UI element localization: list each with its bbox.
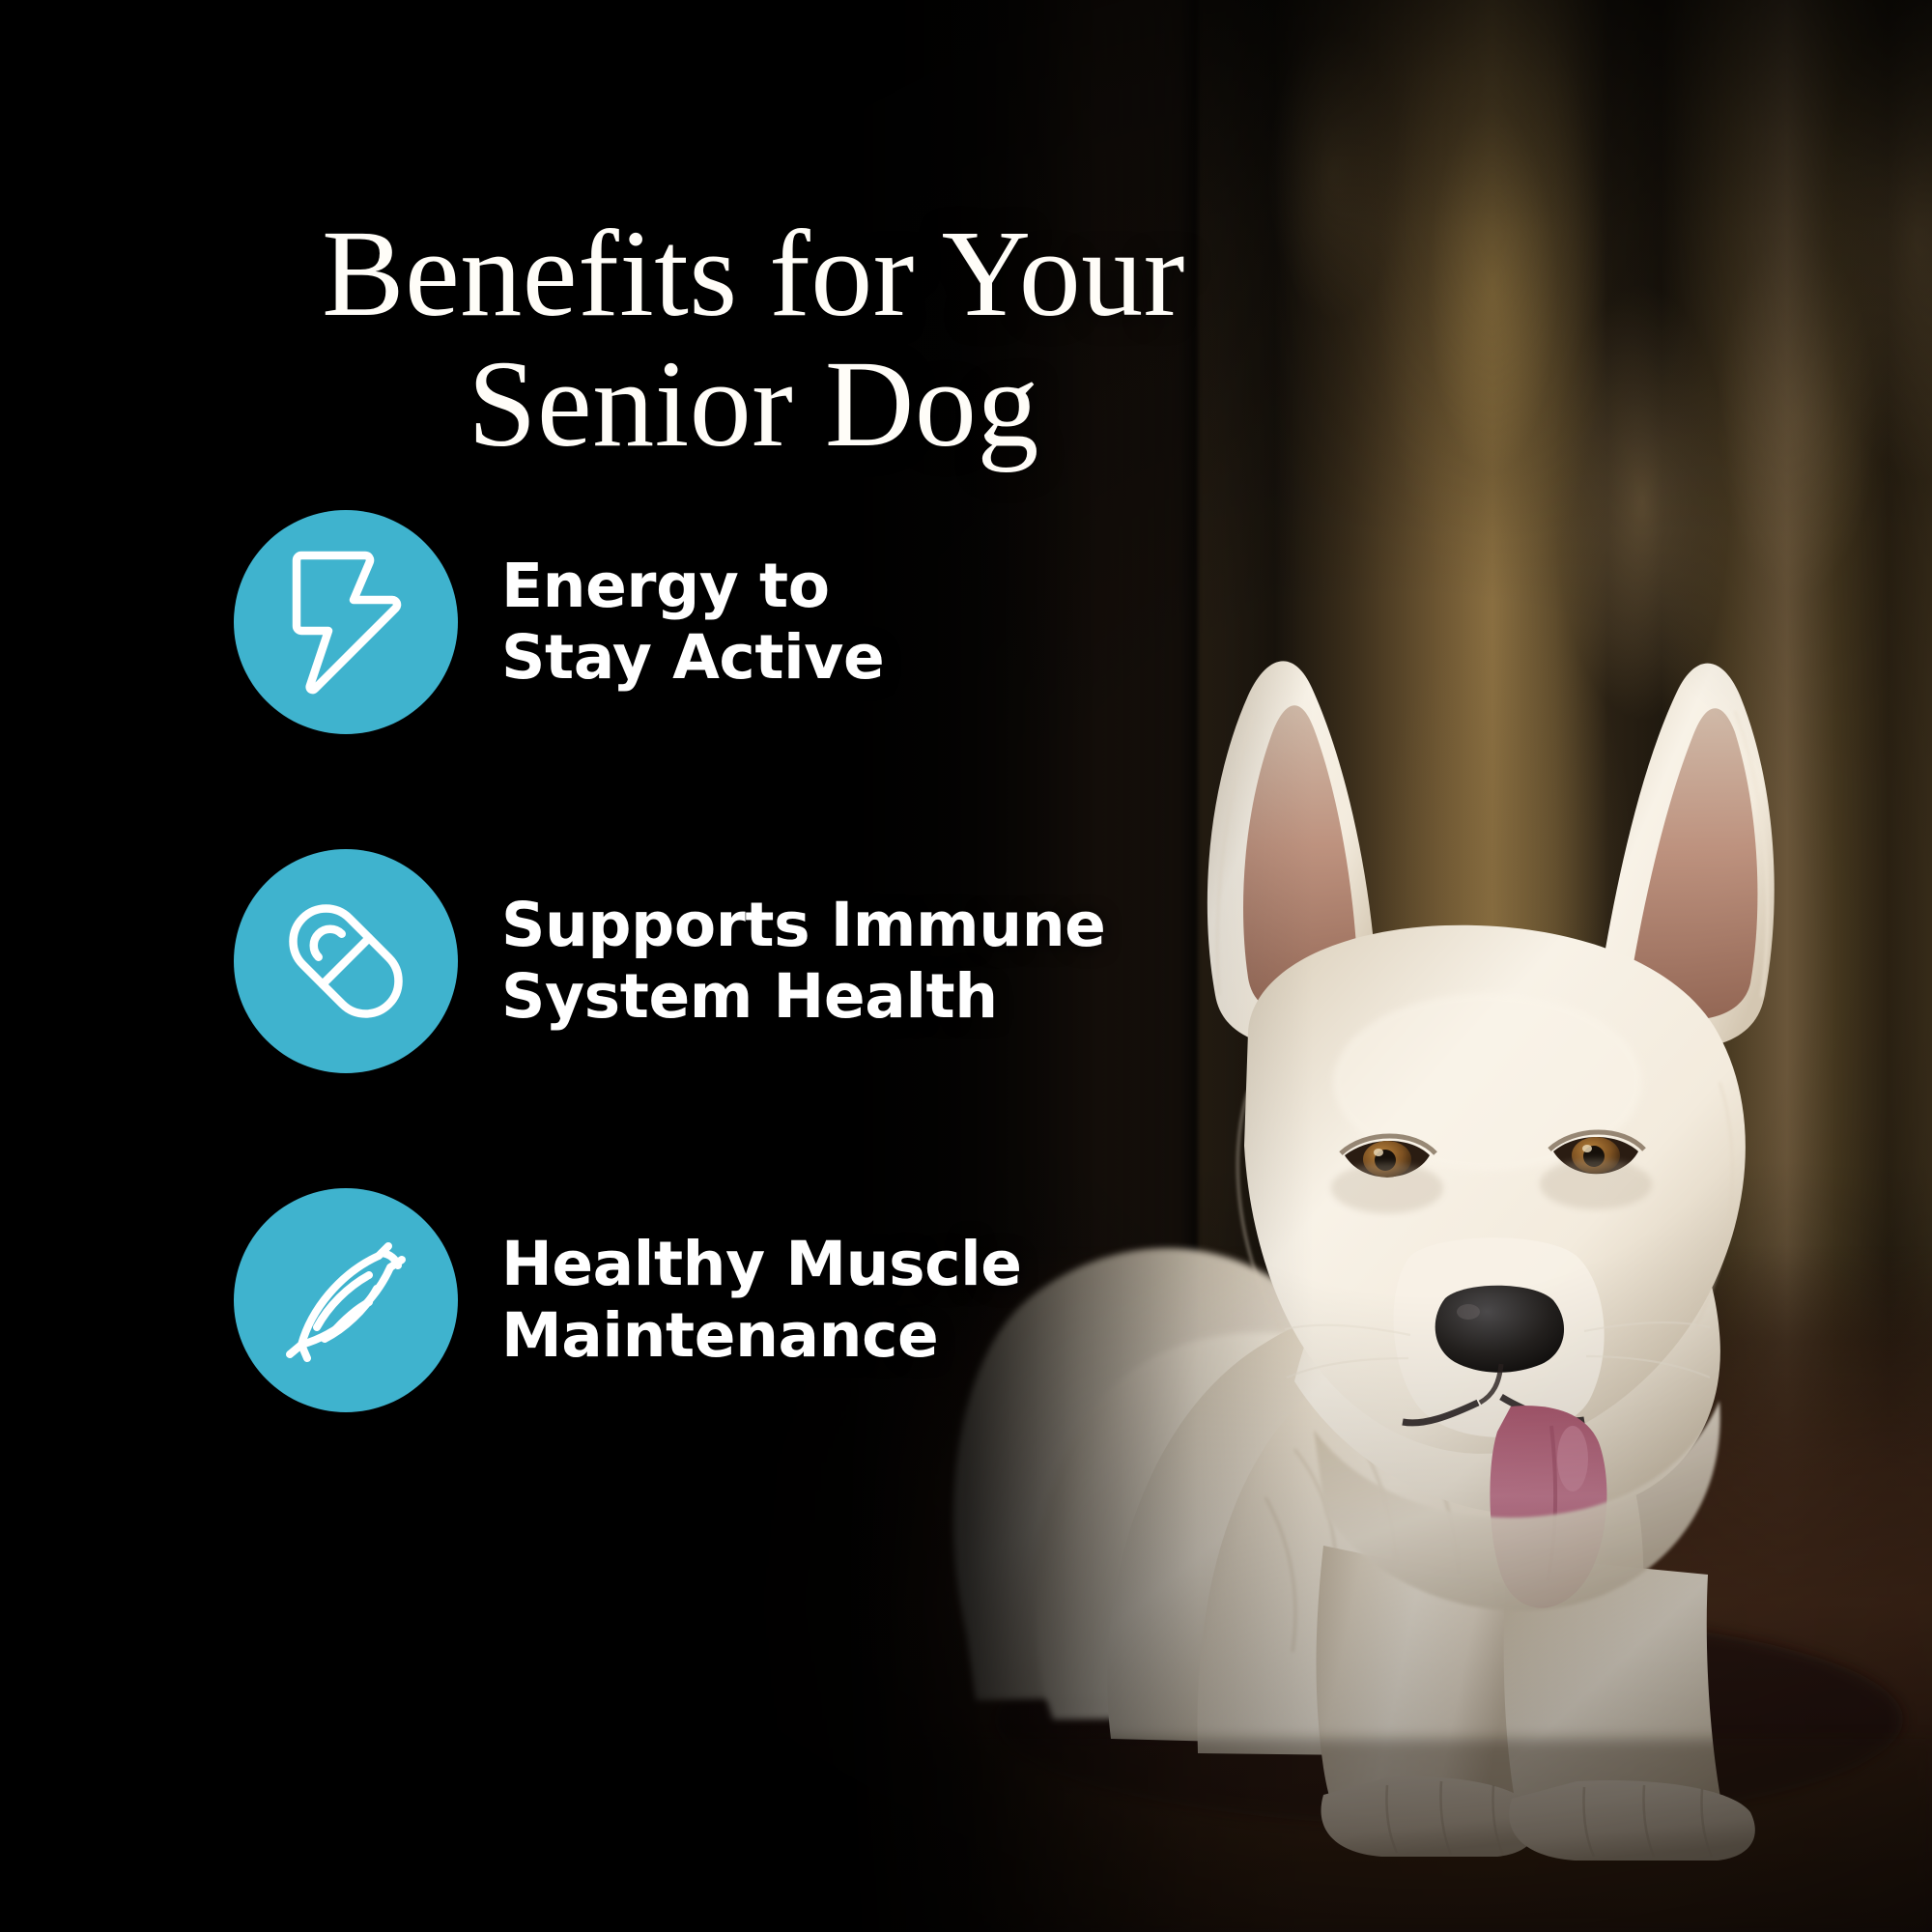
muscle-icon	[272, 1227, 419, 1374]
icon-badge-immune	[234, 849, 458, 1073]
page-title-line-2: Senior Dog	[0, 339, 1507, 470]
benefit-item-energy: Energy to Stay Active	[234, 510, 1258, 734]
benefit-label-immune: Supports Immune System Health	[501, 890, 1105, 1034]
icon-badge-energy	[234, 510, 458, 734]
benefit-label-energy: Energy to Stay Active	[501, 551, 884, 695]
poster-root: Benefits for Your Senior Dog Energy to S…	[0, 0, 1932, 1932]
lightning-bolt-icon	[286, 550, 406, 695]
benefit-item-muscle: Healthy Muscle Maintenance	[234, 1188, 1258, 1412]
benefit-item-immune: Supports Immune System Health	[234, 849, 1258, 1073]
pill-capsule-icon	[273, 889, 418, 1034]
icon-badge-muscle	[234, 1188, 458, 1412]
page-title: Benefits for Your Senior Dog	[0, 209, 1507, 470]
page-title-line-1: Benefits for Your	[322, 205, 1185, 342]
benefit-label-muscle: Healthy Muscle Maintenance	[501, 1229, 1022, 1373]
benefits-list: Energy to Stay Active Supports Immune Sy…	[234, 510, 1258, 1412]
